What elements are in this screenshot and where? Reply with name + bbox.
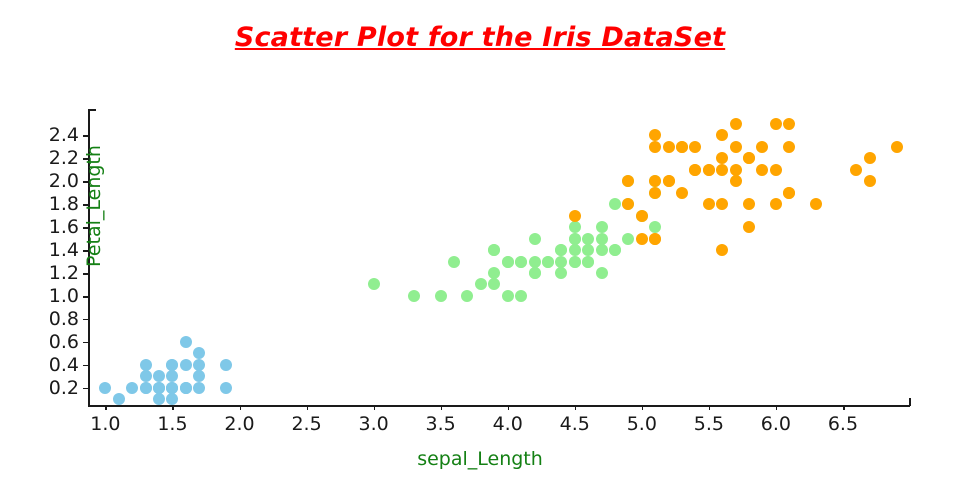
data-point xyxy=(193,370,205,382)
data-point xyxy=(153,382,165,394)
y-tick-label: 1.2 xyxy=(49,262,79,284)
y-tick-label: 2.4 xyxy=(49,124,79,146)
y-tick-mark xyxy=(83,319,88,321)
data-point xyxy=(850,164,862,176)
x-tick-label: 5.5 xyxy=(694,413,724,435)
data-point xyxy=(891,141,903,153)
data-point xyxy=(730,141,742,153)
x-tick-mark xyxy=(642,405,644,410)
y-tick-label: 0.4 xyxy=(49,354,79,376)
data-point xyxy=(448,256,460,268)
y-axis-label: Petal_Length xyxy=(83,96,105,316)
data-point xyxy=(676,141,688,153)
data-point xyxy=(153,393,165,405)
data-point xyxy=(166,359,178,371)
x-axis-label: sepal_Length xyxy=(0,448,960,470)
data-point xyxy=(783,187,795,199)
x-tick-label: 4.5 xyxy=(560,413,590,435)
data-point xyxy=(569,233,581,245)
data-point xyxy=(582,244,594,256)
data-point xyxy=(649,175,661,187)
y-tick-mark xyxy=(83,365,88,367)
data-point xyxy=(180,382,192,394)
x-tick-mark xyxy=(776,405,778,410)
data-point xyxy=(596,244,608,256)
x-tick-label: 5.0 xyxy=(627,413,657,435)
data-point xyxy=(703,198,715,210)
data-point xyxy=(529,233,541,245)
x-axis-endcap xyxy=(909,398,911,406)
data-point xyxy=(555,267,567,279)
data-point xyxy=(609,244,621,256)
data-point xyxy=(756,141,768,153)
data-point xyxy=(99,382,111,394)
data-point xyxy=(542,256,554,268)
data-point xyxy=(622,175,634,187)
data-point xyxy=(529,267,541,279)
data-point xyxy=(582,256,594,268)
x-tick-label: 2.5 xyxy=(291,413,321,435)
y-tick-label: 0.2 xyxy=(49,377,79,399)
x-tick-mark xyxy=(240,405,242,410)
data-point xyxy=(596,233,608,245)
x-tick-label: 3.0 xyxy=(358,413,388,435)
data-point xyxy=(582,233,594,245)
data-point xyxy=(569,221,581,233)
data-point xyxy=(716,198,728,210)
data-point xyxy=(193,382,205,394)
data-point xyxy=(475,278,487,290)
y-tick-label: 1.8 xyxy=(49,193,79,215)
data-point xyxy=(596,267,608,279)
x-tick-mark xyxy=(843,405,845,410)
data-point xyxy=(529,256,541,268)
data-point xyxy=(810,198,822,210)
data-point xyxy=(569,256,581,268)
y-tick-mark xyxy=(83,388,88,390)
data-point xyxy=(555,256,567,268)
x-tick-label: 4.0 xyxy=(493,413,523,435)
data-point xyxy=(649,187,661,199)
data-point xyxy=(636,210,648,222)
data-point xyxy=(488,278,500,290)
data-point xyxy=(569,244,581,256)
data-point xyxy=(716,164,728,176)
data-point xyxy=(716,152,728,164)
y-tick-label: 1.0 xyxy=(49,285,79,307)
x-tick-mark xyxy=(105,405,107,410)
x-tick-mark xyxy=(508,405,510,410)
x-tick-mark xyxy=(374,405,376,410)
data-point xyxy=(649,129,661,141)
data-point xyxy=(140,370,152,382)
data-point xyxy=(488,267,500,279)
x-tick-label: 2.0 xyxy=(224,413,254,435)
data-point xyxy=(153,370,165,382)
data-point xyxy=(126,382,138,394)
x-tick-mark xyxy=(709,405,711,410)
x-tick-label: 6.0 xyxy=(761,413,791,435)
data-point xyxy=(368,278,380,290)
data-point xyxy=(864,175,876,187)
data-point xyxy=(663,141,675,153)
data-point xyxy=(649,233,661,245)
plot-area: 0.20.40.60.81.01.21.41.61.82.02.22.4 1.0… xyxy=(92,118,910,405)
data-point xyxy=(770,198,782,210)
data-point xyxy=(166,382,178,394)
y-tick-label: 0.6 xyxy=(49,331,79,353)
data-point xyxy=(689,164,701,176)
scatter-plot-figure: Scatter Plot for the Iris DataSet 0.20.4… xyxy=(0,0,960,500)
data-point xyxy=(220,382,232,394)
data-point xyxy=(408,290,420,302)
data-point xyxy=(636,233,648,245)
data-point xyxy=(113,393,125,405)
data-point xyxy=(716,244,728,256)
data-point xyxy=(488,244,500,256)
data-point xyxy=(569,210,581,222)
data-point xyxy=(193,347,205,359)
x-tick-mark xyxy=(172,405,174,410)
data-point xyxy=(663,175,675,187)
x-tick-label: 1.5 xyxy=(157,413,187,435)
x-tick-mark xyxy=(307,405,309,410)
data-point xyxy=(596,221,608,233)
y-tick-label: 1.4 xyxy=(49,239,79,261)
data-point xyxy=(689,141,701,153)
data-point xyxy=(502,256,514,268)
data-point xyxy=(649,141,661,153)
data-point xyxy=(622,198,634,210)
data-point xyxy=(435,290,447,302)
data-point xyxy=(756,164,768,176)
data-point xyxy=(864,152,876,164)
data-point xyxy=(730,164,742,176)
x-tick-label: 3.5 xyxy=(426,413,456,435)
data-point xyxy=(743,198,755,210)
data-point xyxy=(140,382,152,394)
chart-title: Scatter Plot for the Iris DataSet xyxy=(0,22,960,53)
data-point xyxy=(743,221,755,233)
x-tick-label: 6.5 xyxy=(828,413,858,435)
y-tick-label: 2.0 xyxy=(49,170,79,192)
data-point xyxy=(649,221,661,233)
y-tick-label: 2.2 xyxy=(49,147,79,169)
data-point xyxy=(555,244,567,256)
data-point xyxy=(783,141,795,153)
data-point xyxy=(622,233,634,245)
y-tick-label: 1.6 xyxy=(49,216,79,238)
x-tick-mark xyxy=(575,405,577,410)
data-point xyxy=(515,290,527,302)
data-point xyxy=(180,336,192,348)
data-point xyxy=(461,290,473,302)
y-tick-mark xyxy=(83,342,88,344)
data-point xyxy=(770,118,782,130)
data-point xyxy=(716,129,728,141)
data-point xyxy=(193,359,205,371)
data-point xyxy=(502,290,514,302)
x-tick-label: 1.0 xyxy=(90,413,120,435)
data-point xyxy=(770,164,782,176)
data-point xyxy=(730,118,742,130)
data-point xyxy=(180,359,192,371)
data-point xyxy=(703,164,715,176)
x-axis-line xyxy=(88,405,910,407)
x-tick-mark xyxy=(441,405,443,410)
data-point xyxy=(743,152,755,164)
data-point xyxy=(676,187,688,199)
data-point xyxy=(166,393,178,405)
data-point xyxy=(515,256,527,268)
data-point xyxy=(609,198,621,210)
y-tick-label: 0.8 xyxy=(49,308,79,330)
data-point xyxy=(783,118,795,130)
data-point xyxy=(220,359,232,371)
data-point xyxy=(166,370,178,382)
data-point xyxy=(730,175,742,187)
data-point xyxy=(140,359,152,371)
